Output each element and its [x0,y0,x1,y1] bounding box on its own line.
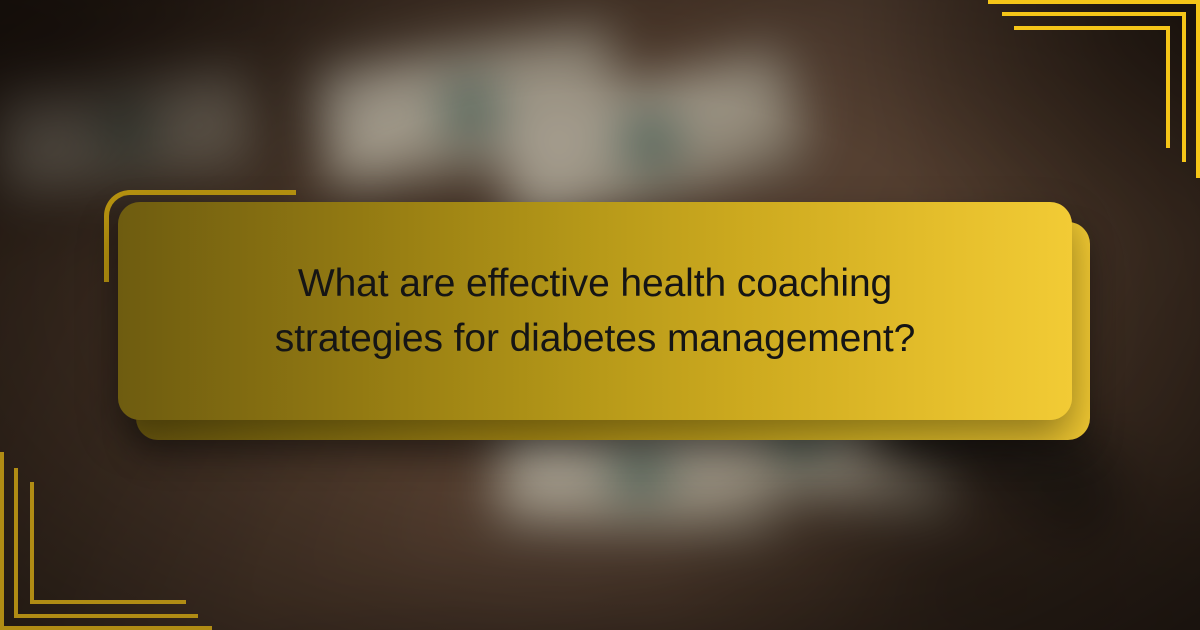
social-share-card: What are effective health coaching strat… [0,0,1200,630]
question-card: What are effective health coaching strat… [118,202,1072,420]
question-text: What are effective health coaching strat… [195,256,995,367]
